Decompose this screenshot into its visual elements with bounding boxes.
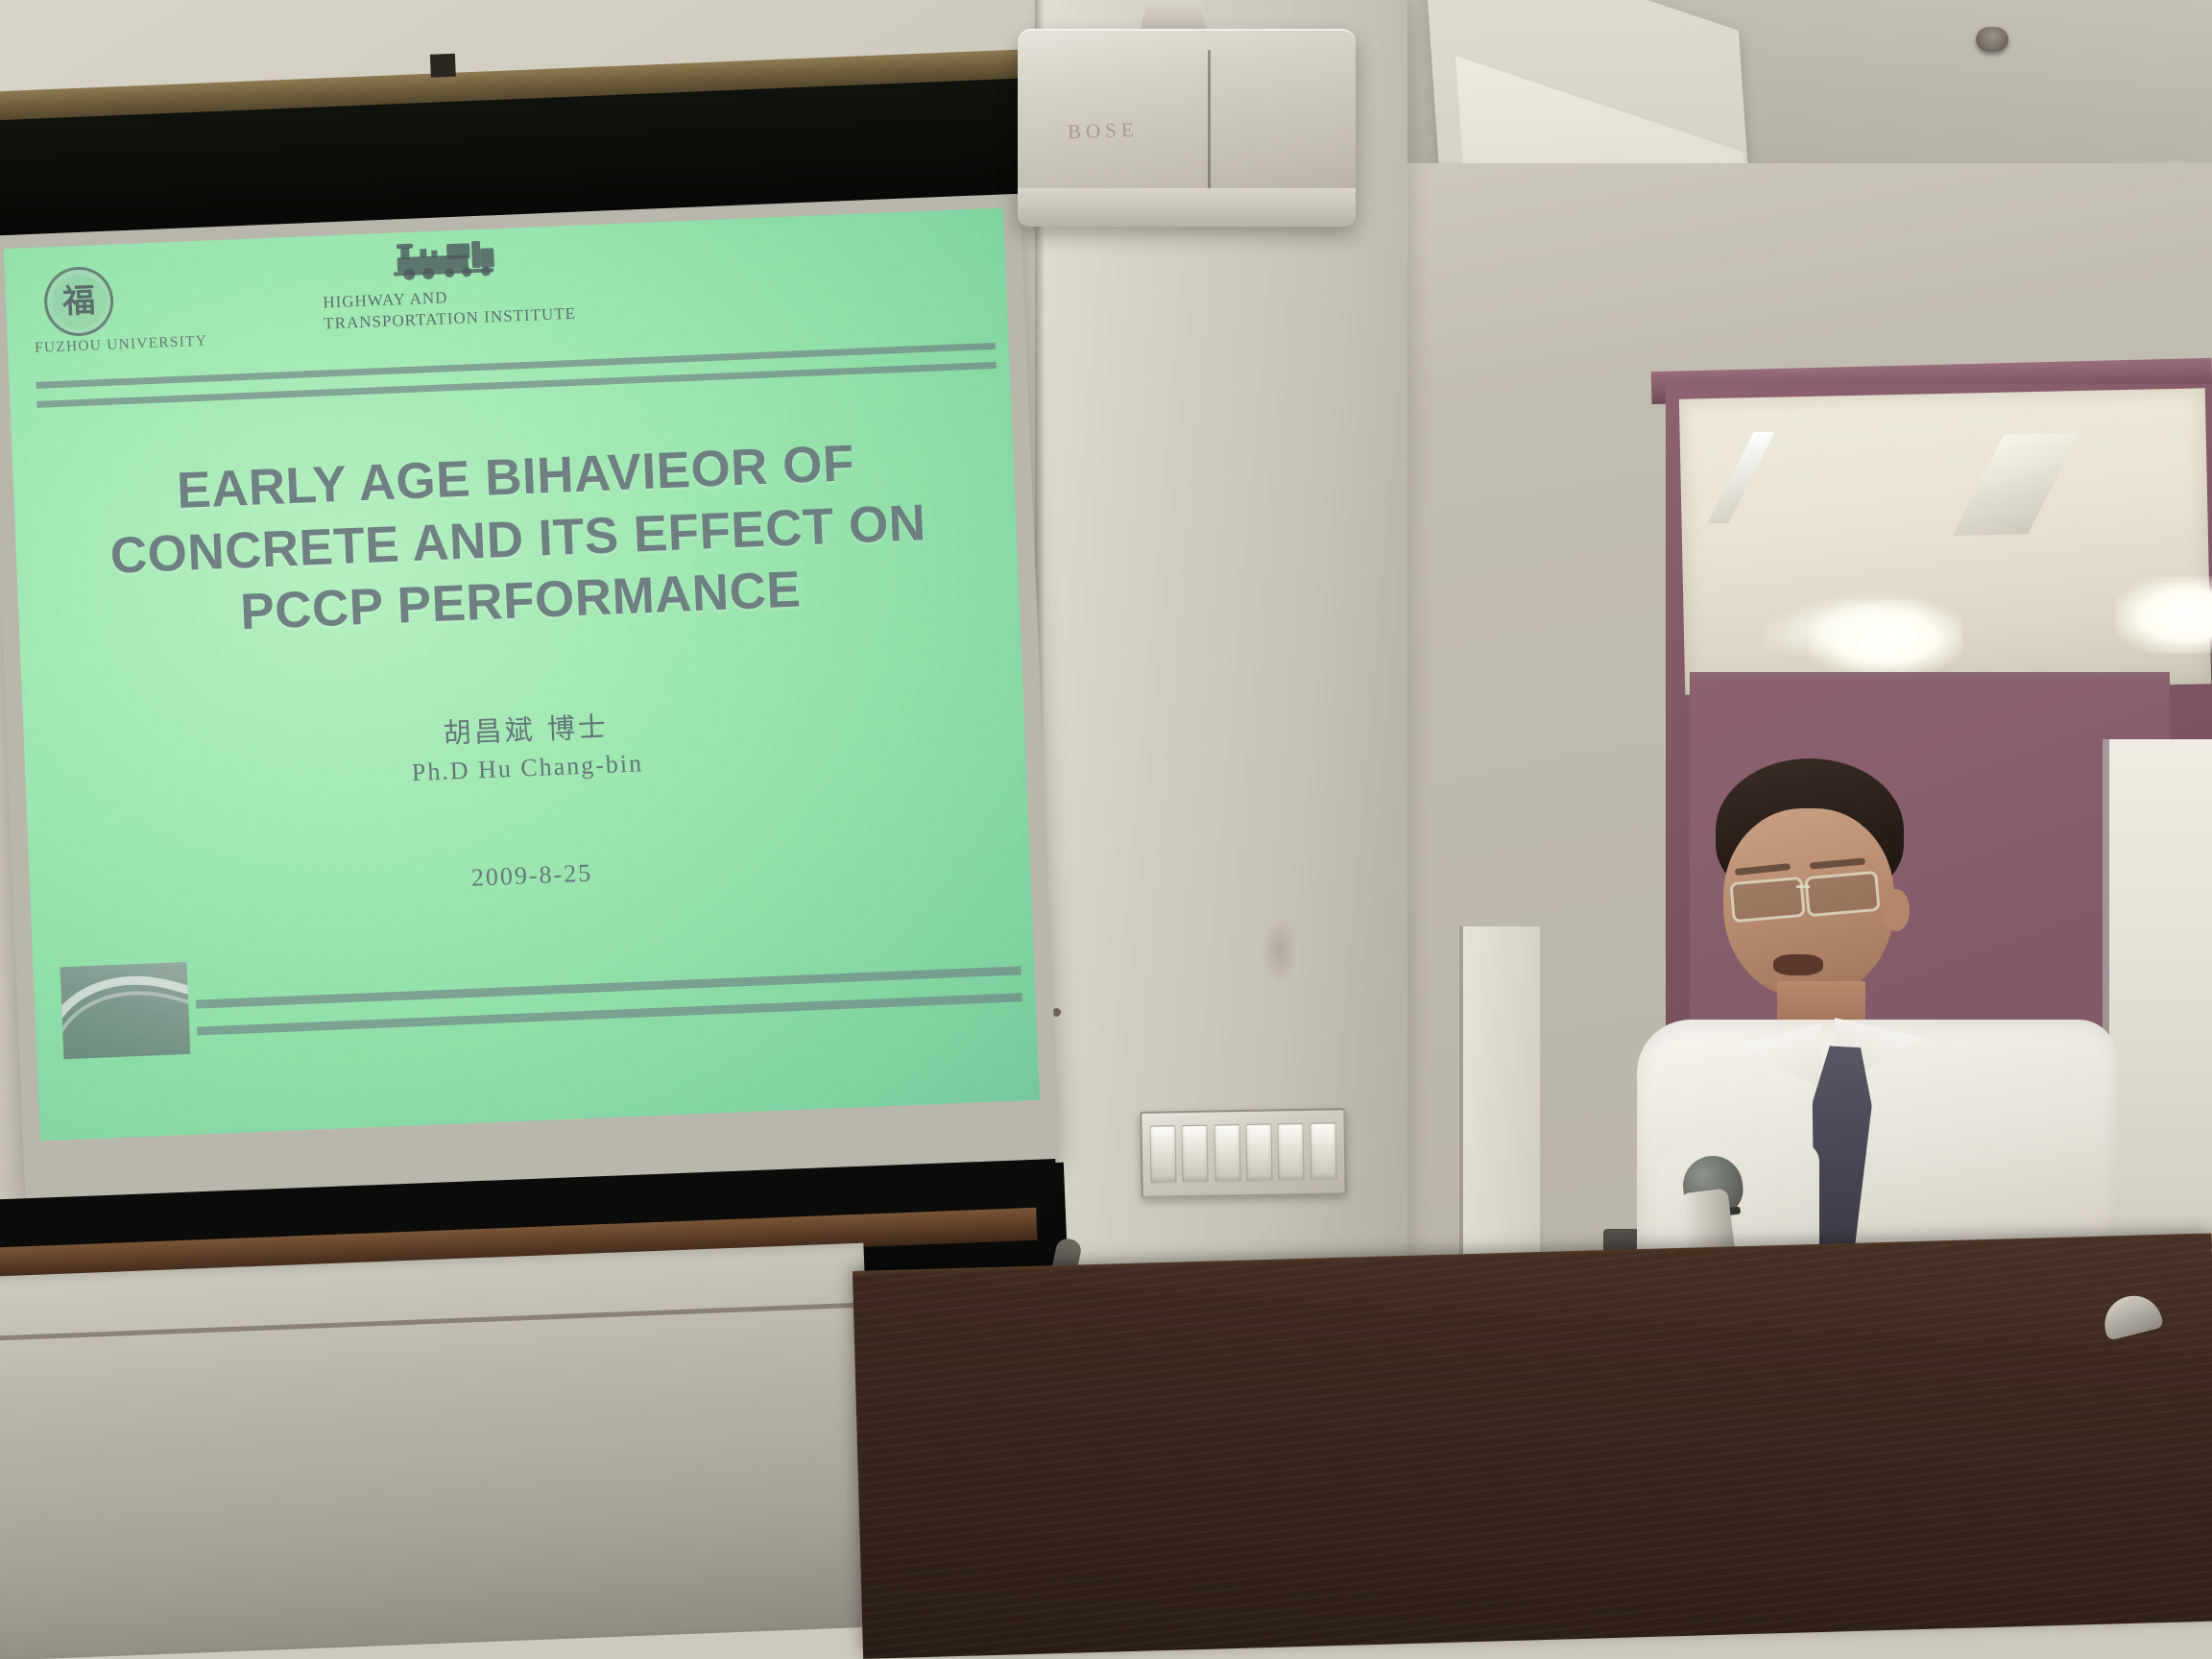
slide-title: EARLY AGE BIHAVIEOR OF CONCRETE AND ITS … <box>59 428 977 652</box>
ceiling-light-fixture-icon <box>1953 433 2079 536</box>
wood-grain <box>853 1237 2212 1658</box>
seal-glyph: 福 <box>61 284 95 318</box>
speaker-brand-label: BOSE <box>1068 118 1140 145</box>
presentation-slide: 福 FUZHOU UNIVERSITY <box>4 207 1040 1141</box>
light-switch-1[interactable] <box>1150 1125 1177 1183</box>
slide-header: 福 FUZHOU UNIVERSITY <box>4 207 1013 469</box>
wooden-podium <box>853 1237 2212 1658</box>
light-glare <box>2115 575 2212 655</box>
eyeglasses-lens-left <box>1729 877 1805 923</box>
wall-smudge <box>1262 917 1297 984</box>
bench-front-panel <box>0 1243 878 1659</box>
presentation-date: 2009-8-25 <box>76 843 988 909</box>
university-name: FUZHOU UNIVERSITY <box>35 333 208 357</box>
light-switch-5[interactable] <box>1278 1123 1305 1181</box>
institute-line-1: HIGHWAY AND <box>323 288 448 312</box>
light-switch-6[interactable] <box>1310 1122 1336 1180</box>
ceiling-light-fixture-icon <box>1708 432 1775 523</box>
highway-photo-thumbnail <box>60 962 191 1059</box>
speaker-grille-seam <box>1208 50 1211 207</box>
light-switch-4[interactable] <box>1246 1123 1273 1181</box>
sprinkler-head-icon <box>1976 27 2008 52</box>
presenter-ear <box>1883 889 1910 931</box>
lecture-room-photo: 福 FUZHOU UNIVERSITY <box>0 0 2212 1659</box>
steam-locomotive-icon <box>383 234 500 281</box>
fuzhou-university-seal-icon: 福 <box>43 266 115 338</box>
screen-surface: 福 FUZHOU UNIVERSITY <box>0 194 1060 1205</box>
eyeglasses-lens-right <box>1804 871 1880 917</box>
transom-window <box>1679 388 2211 694</box>
light-switch-panel[interactable] <box>1140 1108 1347 1198</box>
light-switch-3[interactable] <box>1214 1124 1240 1182</box>
light-switch-2[interactable] <box>1182 1125 1209 1183</box>
eyeglasses-bridge <box>1796 885 1810 888</box>
screen-pull-tab[interactable] <box>430 54 456 78</box>
speaker-lower-lip <box>1018 188 1356 227</box>
projection-screen: 福 FUZHOU UNIVERSITY <box>0 69 1102 1260</box>
presenter-mouth <box>1773 954 1823 975</box>
